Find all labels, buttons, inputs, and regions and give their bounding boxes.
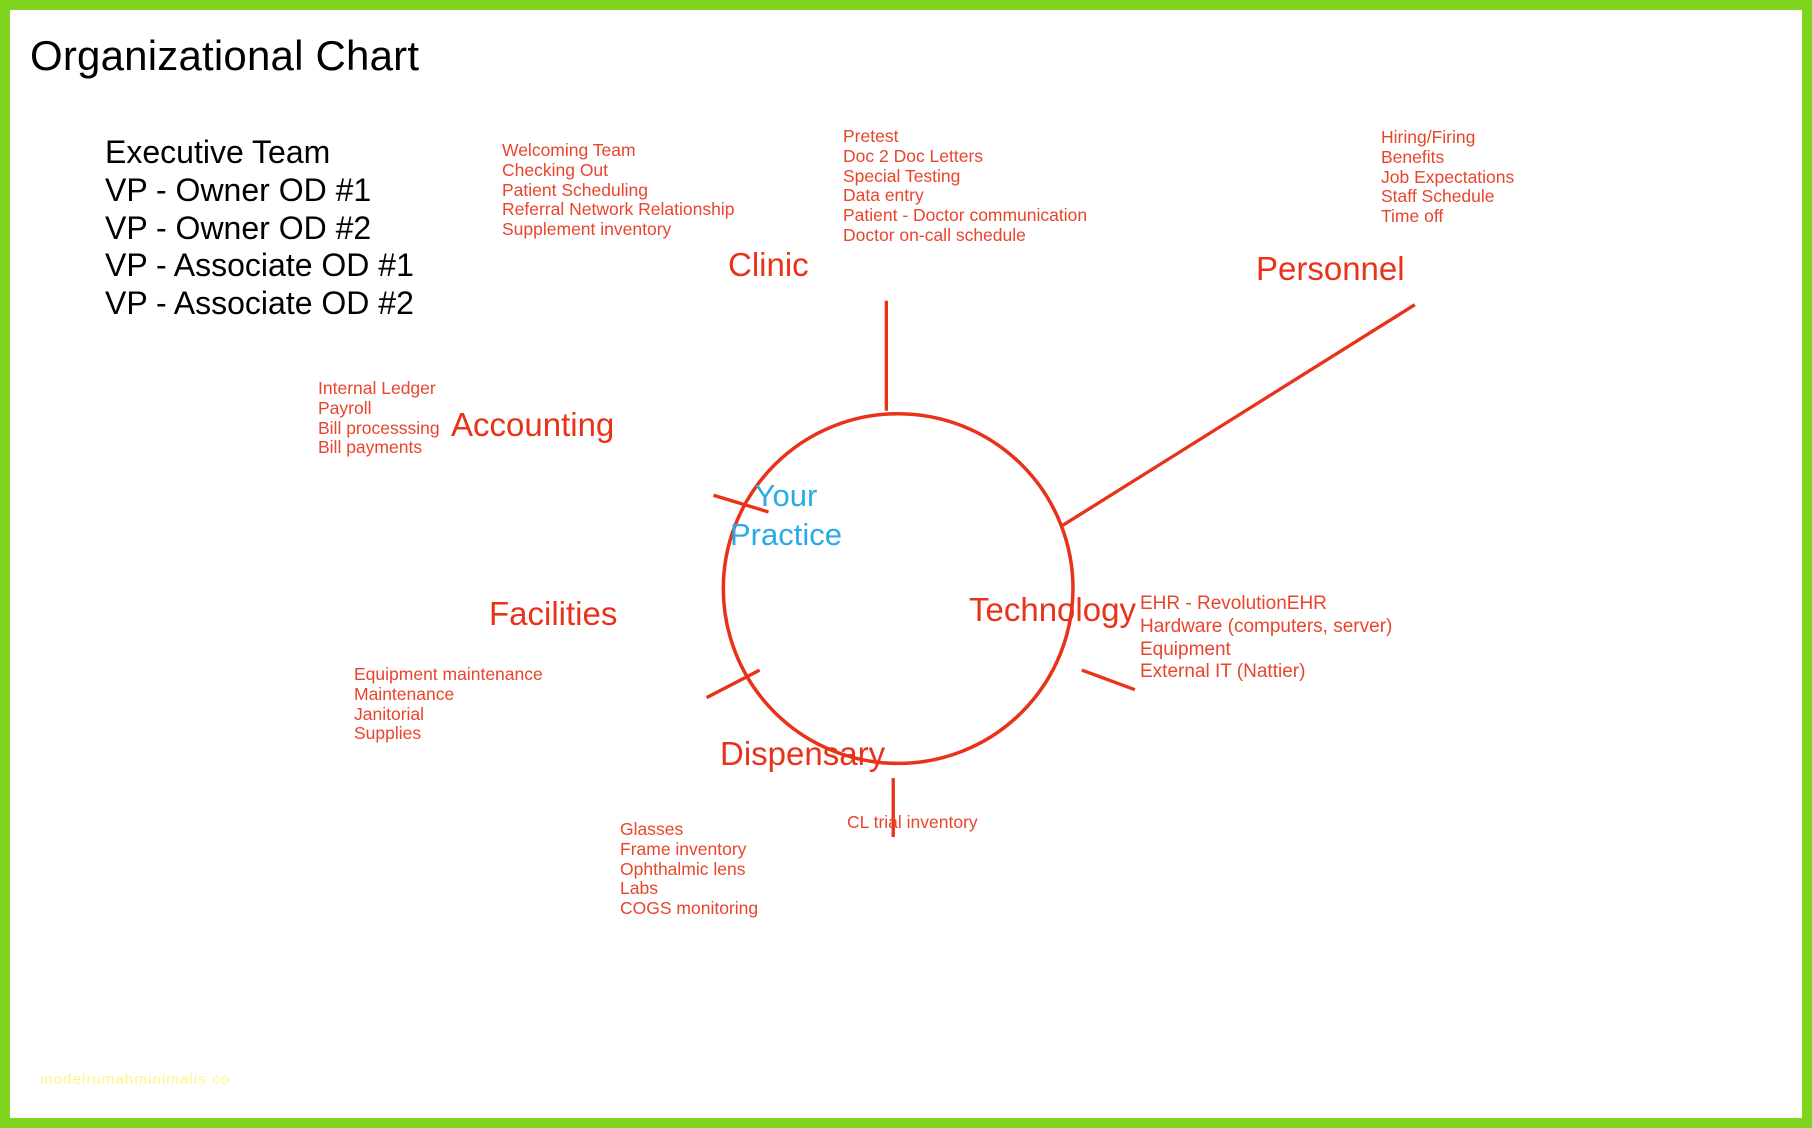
branch-label-dispensary: Dispensary bbox=[720, 735, 885, 773]
list-item: Supplement inventory bbox=[502, 220, 734, 240]
list-item: Checking Out bbox=[502, 161, 734, 181]
organizational-chart-canvas: Organizational Chart Executive Team VP -… bbox=[0, 0, 1812, 1128]
watermark: modelrumahminimalis co bbox=[40, 1071, 230, 1088]
list-item: External IT (Nattier) bbox=[1140, 661, 1392, 684]
list-item: Hardware (computers, server) bbox=[1140, 616, 1392, 639]
list-item: Supplies bbox=[354, 724, 543, 744]
list-item: Patient Scheduling bbox=[502, 181, 734, 201]
clinic-detail-list: Welcoming Team Checking Out Patient Sche… bbox=[502, 141, 734, 240]
connector-spacer-2 bbox=[1081, 671, 1109, 681]
list-item: Benefits bbox=[1381, 148, 1514, 168]
list-item: Glasses bbox=[620, 820, 758, 840]
connector-technology bbox=[1082, 670, 1135, 690]
technology-detail-list: EHR - RevolutionEHR Hardware (computers,… bbox=[1140, 593, 1392, 684]
dispensary-detail-list: Glasses Frame inventory Ophthalmic lens … bbox=[620, 820, 758, 919]
hub-label-line2: Practice bbox=[631, 516, 941, 555]
list-item: Internal Ledger bbox=[318, 379, 440, 399]
dispensary-secondary-detail-list: CL trial inventory bbox=[847, 813, 978, 833]
list-item: Bill processsing bbox=[318, 419, 440, 439]
connector-facilities bbox=[707, 670, 760, 698]
page-title: Organizational Chart bbox=[30, 32, 419, 80]
list-item: Janitorial bbox=[354, 705, 543, 725]
clinic-secondary-detail-list: Pretest Doc 2 Doc Letters Special Testin… bbox=[843, 127, 1087, 246]
list-item: Welcoming Team bbox=[502, 141, 734, 161]
executive-member: VP - Associate OD #2 bbox=[105, 285, 414, 323]
executive-team-block: Executive Team VP - Owner OD #1 VP - Own… bbox=[105, 134, 414, 323]
personnel-detail-list: Hiring/Firing Benefits Job Expectations … bbox=[1381, 128, 1514, 227]
list-item: Doc 2 Doc Letters bbox=[843, 147, 1087, 167]
facilities-detail-list: Equipment maintenance Maintenance Janito… bbox=[354, 665, 543, 744]
list-item: Doctor on-call schedule bbox=[843, 226, 1087, 246]
list-item: Pretest bbox=[843, 127, 1087, 147]
executive-team-heading: Executive Team bbox=[105, 134, 414, 172]
list-item: Hiring/Firing bbox=[1381, 128, 1514, 148]
branch-label-accounting: Accounting bbox=[451, 406, 614, 444]
list-item: Referral Network Relationship bbox=[502, 200, 734, 220]
list-item: Bill payments bbox=[318, 438, 440, 458]
branch-label-clinic: Clinic bbox=[728, 246, 809, 284]
list-item: Frame inventory bbox=[620, 840, 758, 860]
list-item: Equipment maintenance bbox=[354, 665, 543, 685]
list-item: CL trial inventory bbox=[847, 813, 978, 833]
hub-label-line1: Your bbox=[631, 477, 941, 516]
list-item: Special Testing bbox=[843, 167, 1087, 187]
list-item: Payroll bbox=[318, 399, 440, 419]
list-item: Ophthalmic lens bbox=[620, 860, 758, 880]
list-item: Job Expectations bbox=[1381, 168, 1514, 188]
branch-label-technology: Technology bbox=[969, 591, 1136, 629]
list-item: EHR - RevolutionEHR bbox=[1140, 593, 1392, 616]
list-item: COGS monitoring bbox=[620, 899, 758, 919]
hub-circle bbox=[723, 414, 1073, 764]
connector-personnel bbox=[1062, 305, 1415, 526]
list-item: Labs bbox=[620, 879, 758, 899]
branch-label-personnel: Personnel bbox=[1256, 250, 1405, 288]
list-item: Equipment bbox=[1140, 639, 1392, 662]
list-item: Data entry bbox=[843, 186, 1087, 206]
executive-member: VP - Associate OD #1 bbox=[105, 247, 414, 285]
branch-label-facilities: Facilities bbox=[489, 595, 617, 633]
list-item: Patient - Doctor communication bbox=[843, 206, 1087, 226]
accounting-detail-list: Internal Ledger Payroll Bill processsing… bbox=[318, 379, 440, 458]
list-item: Time off bbox=[1381, 207, 1514, 227]
executive-member: VP - Owner OD #2 bbox=[105, 210, 414, 248]
list-item: Maintenance bbox=[354, 685, 543, 705]
executive-member: VP - Owner OD #1 bbox=[105, 172, 414, 210]
list-item: Staff Schedule bbox=[1381, 187, 1514, 207]
hub-label: Your Practice bbox=[631, 477, 941, 555]
